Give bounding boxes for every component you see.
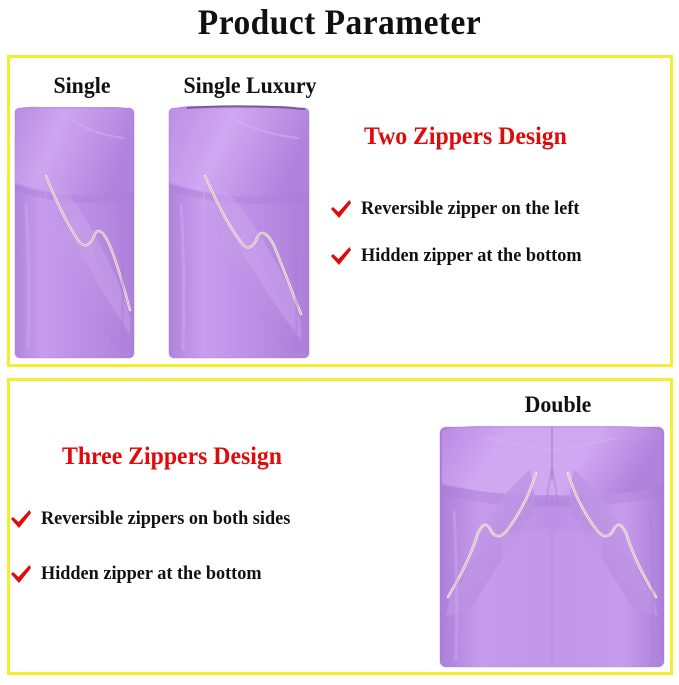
sleeping-bag-liner-single-image <box>12 104 137 360</box>
bullet-text: Hidden zipper at the bottom <box>361 244 582 267</box>
bullet-text: Reversible zipper on the left <box>361 197 580 220</box>
product-label-single-luxury: Single Luxury <box>155 72 345 99</box>
bullet-reversible-zipper-left: Reversible zipper on the left <box>330 197 589 220</box>
product-parameter-infographic: Product Parameter Single Single Luxury <box>0 0 679 685</box>
product-label-double: Double <box>473 391 644 418</box>
bullet-reversible-zippers-both-sides: Reversible zippers on both sides <box>10 507 301 530</box>
bullet-text: Reversible zippers on both sides <box>41 507 290 530</box>
check-icon <box>330 246 352 266</box>
check-icon <box>330 199 352 219</box>
check-icon <box>10 564 32 584</box>
page-title: Product Parameter <box>24 0 655 44</box>
bullet-hidden-zipper-bottom: Hidden zipper at the bottom <box>10 562 271 585</box>
heading-three-zippers-design: Three Zippers Design <box>62 442 282 472</box>
bullet-text: Hidden zipper at the bottom <box>41 562 262 585</box>
sleeping-bag-liner-single-luxury-image <box>165 102 313 362</box>
heading-two-zippers-design: Two Zippers Design <box>364 122 567 152</box>
product-label-single: Single <box>25 72 139 99</box>
sleeping-bag-liner-double-image <box>432 421 672 671</box>
check-icon <box>10 509 32 529</box>
bullet-hidden-zipper-bottom-top: Hidden zipper at the bottom <box>330 244 591 267</box>
